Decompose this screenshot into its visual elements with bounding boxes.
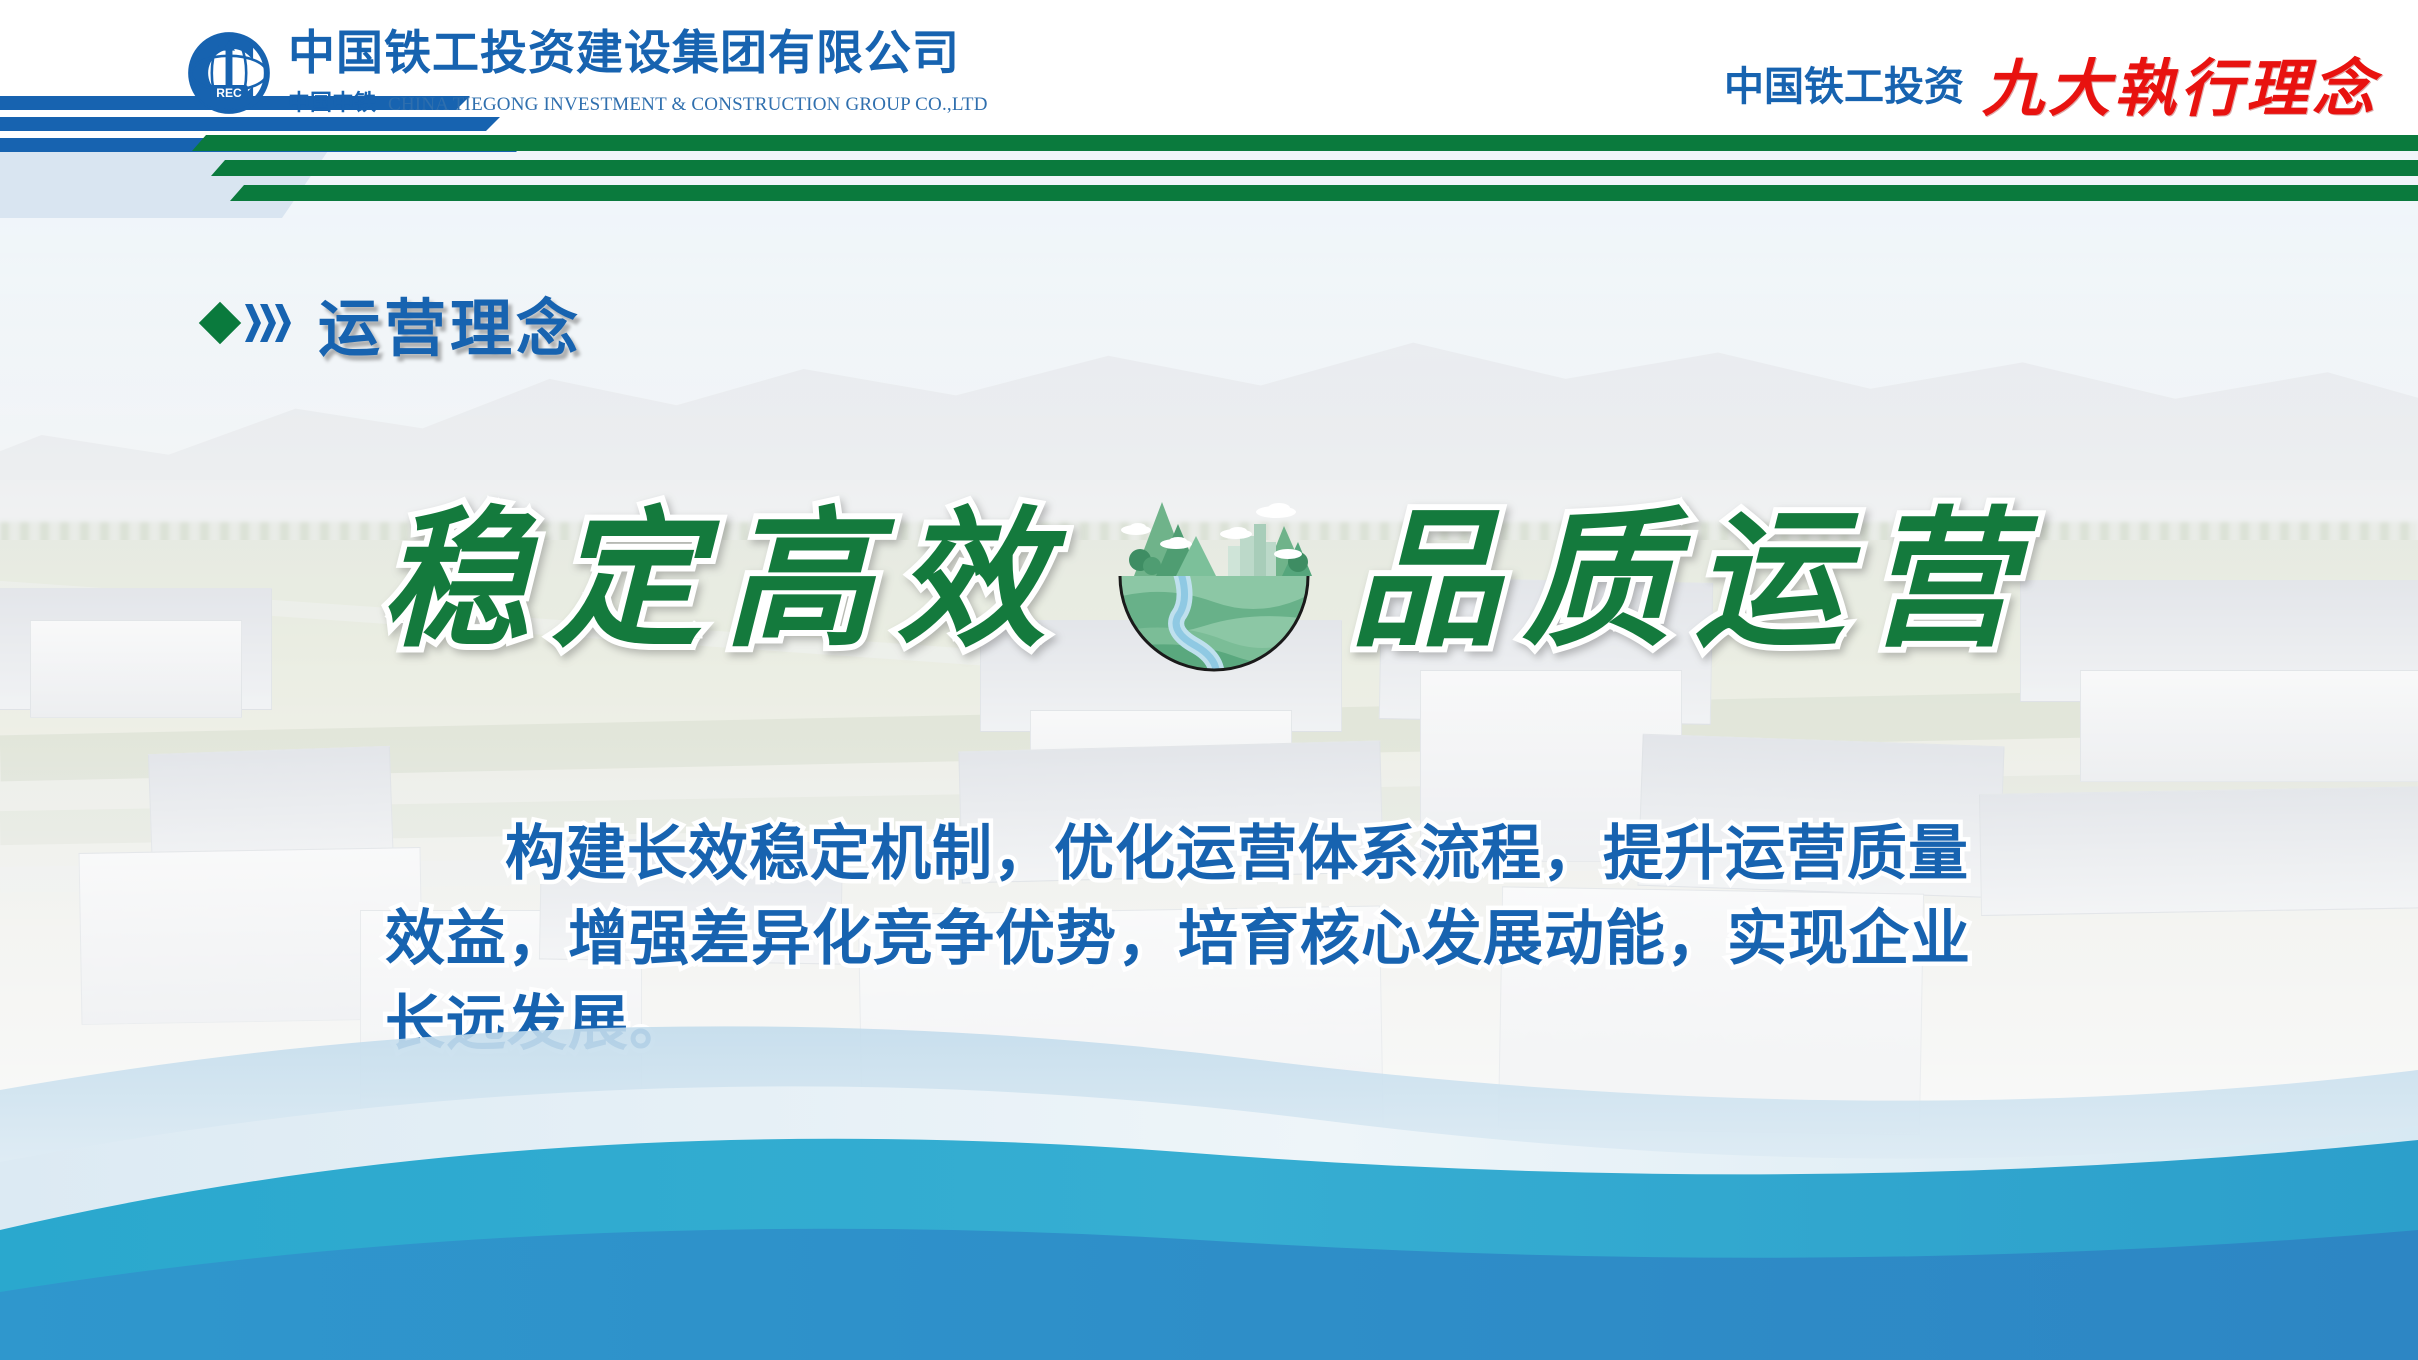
diamond-icon bbox=[199, 302, 241, 344]
company-name-en: CHINA TIEGONG INVESTMENT & CONSTRUCTION … bbox=[388, 94, 988, 116]
green-stripe bbox=[192, 135, 2418, 151]
bottom-wave-decoration bbox=[0, 940, 2418, 1360]
chevron-right-icon bbox=[245, 304, 261, 342]
chevron-right-icon bbox=[275, 304, 291, 342]
brand-short-cn: 中国中铁 bbox=[288, 85, 376, 117]
page-title: 运营理念 bbox=[318, 278, 582, 368]
header-right-calligraphy-title: 九大執行理念 bbox=[1982, 38, 2378, 128]
green-mountain-river-city-emblem-icon bbox=[1104, 480, 1324, 680]
section-title-group: 运营理念 bbox=[205, 278, 582, 368]
svg-text:REC: REC bbox=[216, 86, 242, 100]
green-stripe bbox=[230, 185, 2418, 201]
green-stripe bbox=[211, 160, 2418, 176]
chevron-right-icon bbox=[260, 304, 276, 342]
china-railway-globe-logo-icon: REC bbox=[186, 30, 272, 116]
blue-stripe bbox=[0, 117, 500, 131]
company-name-cn: 中国铁工投资建设集团有限公司 bbox=[288, 30, 988, 77]
slogan-left: 稳定高效 bbox=[380, 505, 1068, 655]
chevron-right-icon bbox=[245, 304, 290, 342]
header-bar: REC 中国铁工投资建设集团有限公司 中国中铁 CHINA TIEGONG IN… bbox=[0, 0, 2418, 150]
slogan-row: 稳定高效 bbox=[0, 480, 2418, 680]
header-right-title: 中国铁工投资 九大執行理念 bbox=[1724, 38, 2378, 128]
company-logo-block: REC 中国铁工投资建设集团有限公司 中国中铁 CHINA TIEGONG IN… bbox=[186, 30, 988, 117]
header-green-stripes bbox=[0, 135, 2418, 215]
slide-canvas: REC 中国铁工投资建设集团有限公司 中国中铁 CHINA TIEGONG IN… bbox=[0, 0, 2418, 1360]
slogan-right: 品质运营 bbox=[1350, 505, 2038, 655]
header-right-prefix: 中国铁工投资 bbox=[1724, 54, 1964, 112]
